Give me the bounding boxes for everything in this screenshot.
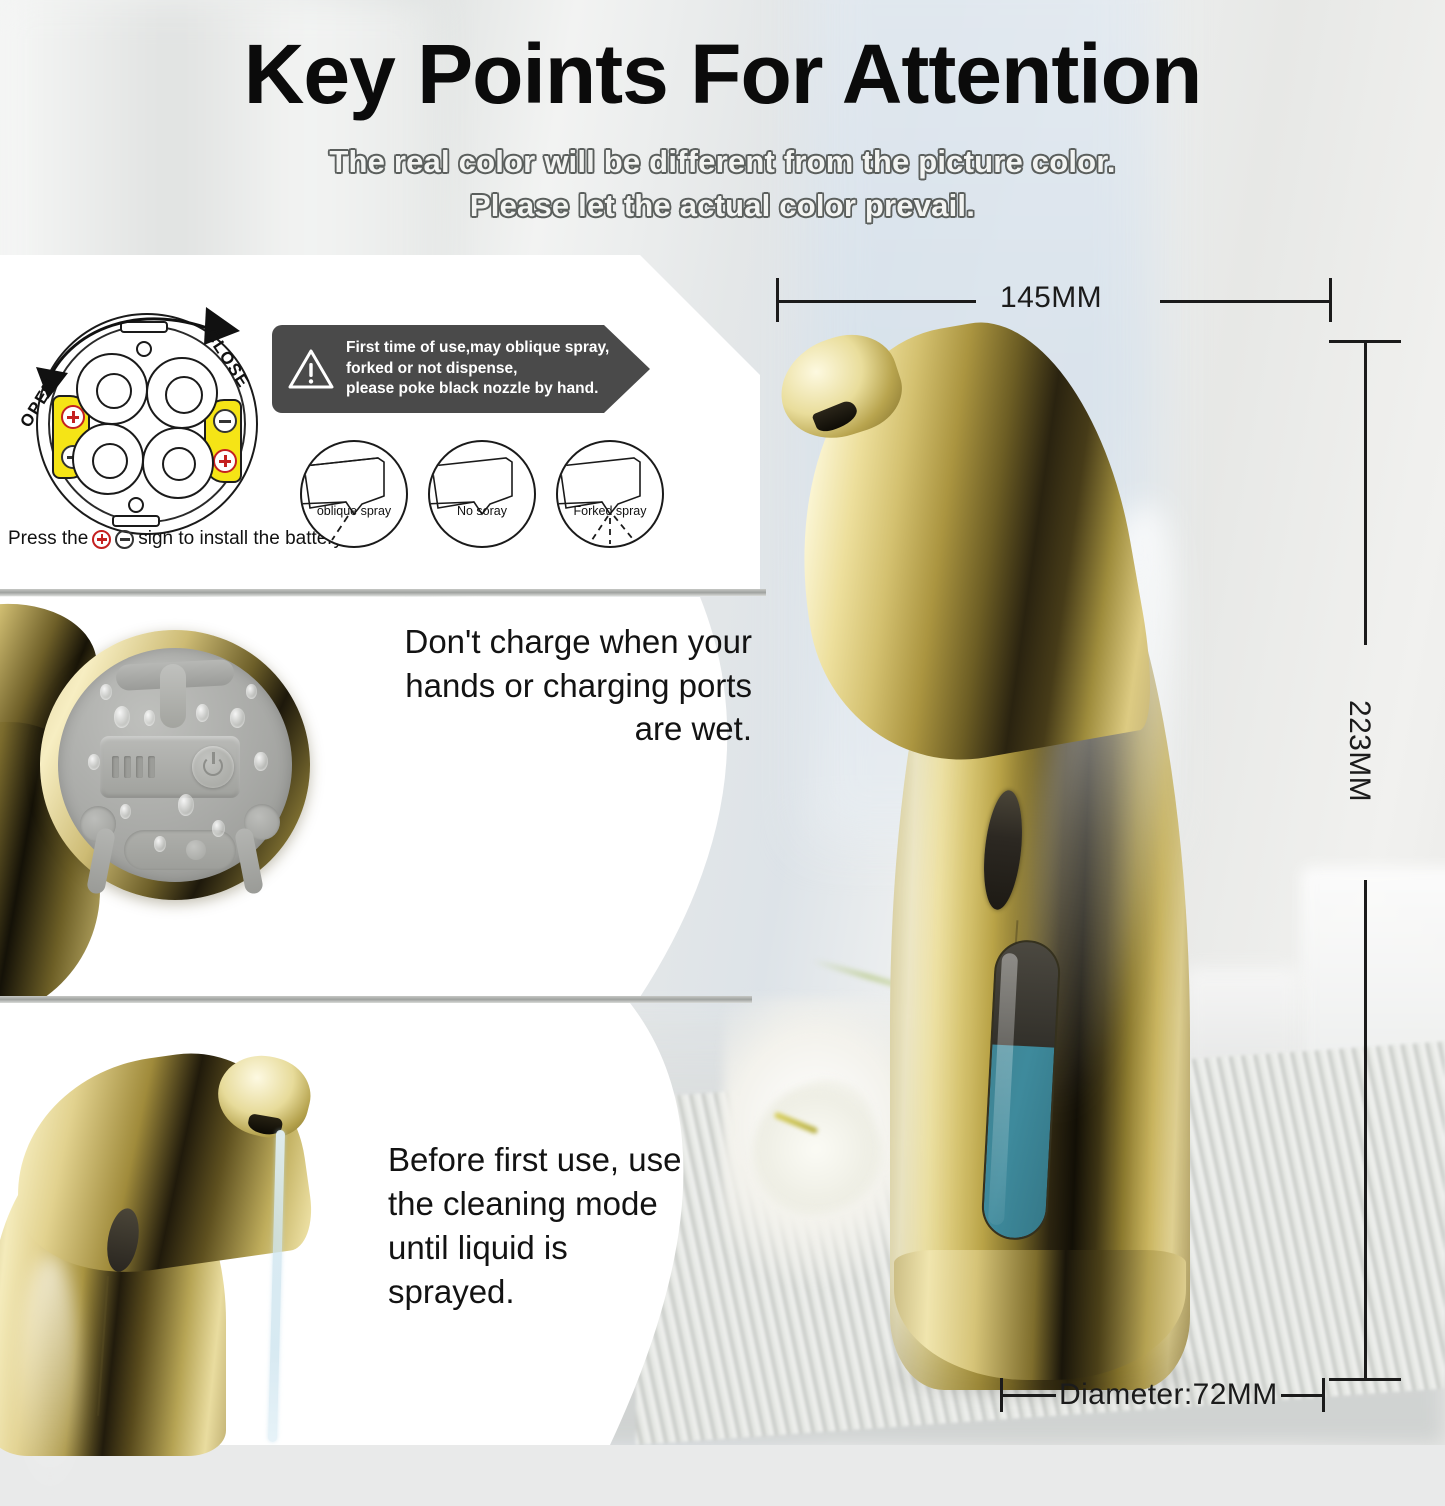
water-droplet (254, 752, 268, 771)
spray-example-forked: Forked spray (556, 440, 664, 548)
spray-example-label: No soray (430, 504, 534, 518)
warning-triangle-icon (288, 348, 334, 390)
subtitle-line-2: Please let the actual color prevail. (0, 184, 1445, 228)
warning-line-2: forked or not dispense, (346, 359, 609, 379)
warning-line-1: First time of use,may oblique spray, (346, 338, 609, 358)
level-bar (148, 756, 155, 778)
power-stem (212, 752, 215, 764)
oblique-spray-icon (302, 442, 408, 548)
panel-divider (0, 589, 766, 596)
no-spray-icon (430, 442, 536, 548)
infographic-canvas: Key Points For Attention The real color … (0, 0, 1445, 1445)
forked-spray-icon (558, 442, 664, 548)
warning-callout: First time of use,may oblique spray, for… (272, 325, 650, 413)
warning-text: First time of use,may oblique spray, for… (346, 338, 609, 399)
page-title: Key Points For Attention (0, 26, 1445, 123)
spray-example-label: Forked spray (558, 504, 662, 518)
power-button-icon (192, 746, 234, 788)
spray-example-oblique: oblique spray (300, 440, 408, 548)
spray-example-label: oblique spray (302, 504, 406, 518)
base-plate (58, 648, 292, 882)
battery-tab-bottom (112, 515, 160, 527)
water-droplet (144, 710, 155, 726)
water-droplet (154, 836, 166, 852)
water-droplet (120, 804, 131, 819)
water-droplet (196, 704, 209, 722)
page-subtitle: The real color will be different from th… (0, 140, 1445, 228)
water-droplet (88, 754, 100, 770)
spray-examples-row: oblique spray No soray Forked spray (300, 440, 664, 548)
water-droplet (178, 794, 194, 816)
base-photo-cap (40, 630, 310, 900)
level-bar (124, 756, 131, 778)
battery-level-bars (112, 756, 155, 778)
battery-caption-prefix: Press the (8, 528, 88, 550)
dimension-width-label: 145MM (1000, 281, 1102, 315)
spray-example-none: No soray (428, 440, 536, 548)
main-product-image (770, 320, 1190, 1390)
warning-line-3: please poke black nozzle by hand. (346, 379, 609, 399)
charging-port-dot (186, 840, 206, 860)
subtitle-line-1: The real color will be different from th… (0, 140, 1445, 184)
product-base-photo (0, 602, 350, 994)
rotation-arc-icon (30, 295, 280, 415)
level-bar (136, 756, 143, 778)
product-spray-photo (0, 1040, 390, 1445)
battery-slot (72, 423, 144, 495)
note-cleaning: Before first use, use the cleaning mode … (388, 1138, 688, 1314)
spray-photo-gloss (20, 1256, 80, 1506)
battery-slot (142, 427, 214, 499)
water-droplet (230, 708, 245, 728)
water-droplet (100, 684, 112, 700)
plus-icon (213, 449, 237, 473)
dimension-diameter-label: Diameter:72MM (1059, 1378, 1278, 1412)
note-charging: Don't charge when your hands or charging… (400, 620, 752, 751)
plus-icon (92, 530, 111, 549)
dimension-height-label: 223MM (1342, 700, 1376, 802)
water-droplet (114, 706, 130, 728)
battery-dot-bottom (128, 497, 144, 513)
water-droplet (246, 684, 257, 699)
panel-divider (0, 996, 752, 1003)
base-control-panel (100, 736, 240, 798)
level-bar (112, 756, 119, 778)
battery-caption: Press the sign to install the battery (8, 528, 308, 550)
water-droplet (212, 820, 225, 837)
base-fin-vertical (160, 664, 186, 728)
minus-icon (115, 530, 134, 549)
